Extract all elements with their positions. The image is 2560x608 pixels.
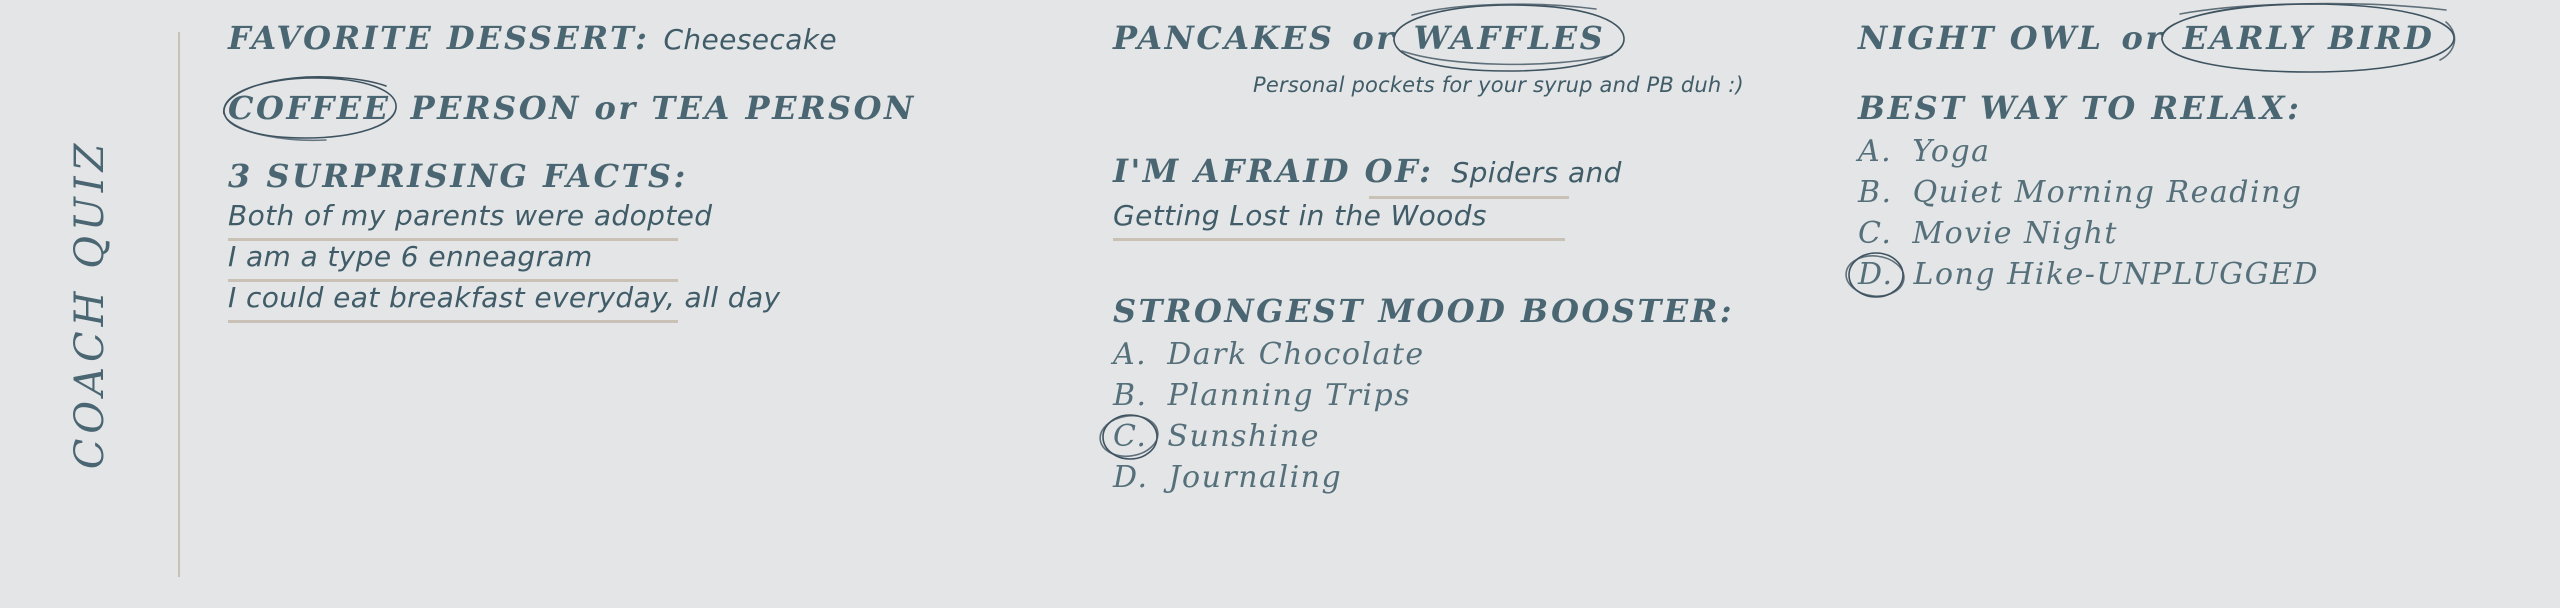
drink-circled-word: COFFEE — [228, 89, 391, 127]
chronotype-conjunction: or — [2122, 19, 2165, 57]
relax-option-c-key: C. — [1858, 219, 1892, 249]
fact-rule-3 — [228, 320, 678, 323]
relax-option-a-text: Yoga — [1912, 134, 1990, 169]
quiz-sheet: COACH QUIZ FAVORITE DESSERT: Cheesecake … — [0, 0, 2560, 608]
favorite-dessert-answer[interactable]: Cheesecake — [663, 26, 837, 54]
breakfast-choice-row[interactable]: PANCAKES or WAFFLES — [1113, 22, 1605, 54]
mood-option-d-key: D. — [1113, 463, 1149, 493]
drink-rest-label: PERSON or TEA PERSON — [411, 89, 916, 127]
relax-option-a[interactable]: A. Yoga — [1858, 137, 1991, 167]
surprising-fact-1[interactable]: Both of my parents were adopted — [228, 202, 712, 230]
page-title: COACH QUIZ — [67, 139, 113, 470]
mood-option-a-text: Dark Chocolate — [1167, 337, 1424, 372]
relax-option-b-key: B. — [1858, 178, 1893, 208]
afraid-of-answer-2[interactable]: Getting Lost in the Woods — [1113, 202, 1487, 230]
chronotype-first-option[interactable]: NIGHT OWL — [1858, 19, 2104, 57]
mood-option-a-key: A. — [1113, 340, 1147, 370]
relax-option-d[interactable]: D. Long Hike-UNPLUGGED — [1858, 260, 2319, 290]
surprising-facts-label: 3 SURPRISING FACTS: — [228, 160, 688, 192]
circled-early-bird[interactable]: EARLY BIRD — [2183, 22, 2435, 54]
relax-label: BEST WAY TO RELAX: — [1858, 92, 2301, 124]
mood-option-b-key: B. — [1113, 381, 1148, 411]
surprising-fact-3[interactable]: I could eat breakfast everyday, all day — [228, 284, 780, 312]
relax-option-c[interactable]: C. Movie Night — [1858, 219, 2118, 249]
afraid-rule-2 — [1113, 238, 1565, 241]
mood-option-b[interactable]: B. Planning Trips — [1113, 381, 1411, 411]
vertical-title-rail: COACH QUIZ — [0, 0, 180, 608]
chronotype-row[interactable]: NIGHT OWL or EARLY BIRD — [1858, 22, 2434, 54]
circled-waffles[interactable]: WAFFLES — [1414, 22, 1606, 54]
mood-option-d[interactable]: D. Journaling — [1113, 463, 1342, 493]
chronotype-circled-word: EARLY BIRD — [2183, 19, 2435, 57]
afraid-of-label: I'M AFRAID OF: — [1113, 155, 1433, 187]
afraid-of-answer-1[interactable]: Spiders and — [1451, 159, 1621, 187]
relax-option-d-text: Long Hike-UNPLUGGED — [1914, 257, 2320, 292]
favorite-dessert-row: FAVORITE DESSERT: Cheesecake — [228, 22, 837, 54]
mood-option-b-text: Planning Trips — [1168, 378, 1412, 413]
breakfast-circled-word: WAFFLES — [1414, 19, 1606, 57]
mood-option-a[interactable]: A. Dark Chocolate — [1113, 340, 1425, 370]
breakfast-conjunction: or — [1352, 19, 1395, 57]
relax-option-b[interactable]: B. Quiet Morning Reading — [1858, 178, 2303, 208]
mood-option-c[interactable]: C. Sunshine — [1113, 422, 1320, 452]
mood-option-d-text: Journaling — [1169, 460, 1343, 495]
mood-option-c-key: C. — [1113, 422, 1147, 452]
relax-option-b-text: Quiet Morning Reading — [1913, 175, 2303, 210]
mood-option-c-text: Sunshine — [1167, 419, 1320, 454]
vertical-divider — [178, 32, 180, 577]
circled-coffee[interactable]: COFFEE — [228, 92, 391, 124]
breakfast-first-option[interactable]: PANCAKES — [1113, 19, 1334, 57]
drink-preference-row[interactable]: COFFEE PERSON or TEA PERSON — [228, 92, 916, 124]
relax-option-d-key: D. — [1858, 260, 1894, 290]
relax-option-a-key: A. — [1858, 137, 1892, 167]
relax-option-c-text: Movie Night — [1912, 216, 2118, 251]
mood-booster-label: STRONGEST MOOD BOOSTER: — [1113, 295, 1734, 327]
breakfast-note: Personal pockets for your syrup and PB d… — [1253, 75, 1744, 96]
afraid-of-row: I'M AFRAID OF: Spiders and — [1113, 155, 1622, 187]
surprising-fact-2[interactable]: I am a type 6 enneagram — [228, 243, 593, 271]
favorite-dessert-label: FAVORITE DESSERT: — [228, 22, 649, 54]
